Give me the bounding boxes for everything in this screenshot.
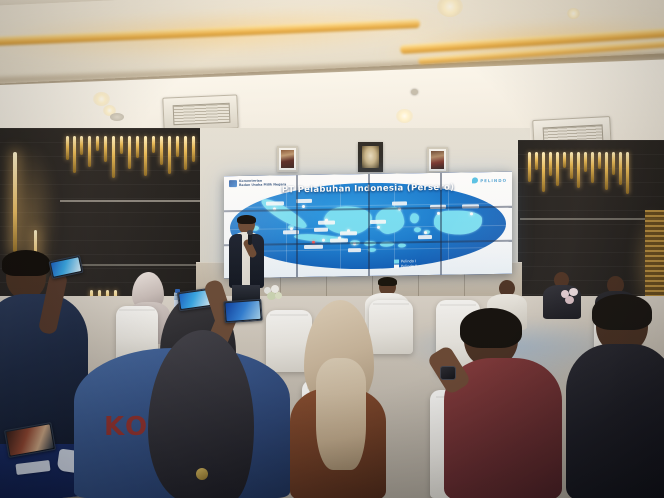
vice-president-portrait-image <box>431 151 444 169</box>
port-label-ambon <box>418 235 432 239</box>
flower-bud-r2 <box>569 288 578 296</box>
smoke-detector-icon <box>110 113 124 121</box>
gold-accent-bar-r8 <box>577 152 580 188</box>
video-wall-bezel-v3 <box>440 173 442 275</box>
port-dot-tanjung-perak <box>338 236 341 239</box>
phone-blue-case[interactable] <box>223 299 262 324</box>
gold-accent-bar-l17 <box>192 136 195 162</box>
legend-row-2: Pelindo II <box>394 264 417 268</box>
president-portrait-frame <box>277 146 298 172</box>
video-wall-bezel-v1 <box>296 175 298 277</box>
attendee-beige-hijab-drape <box>316 358 366 470</box>
port-dot-banjarmasin <box>347 229 350 232</box>
legend-swatch-2 <box>394 265 399 269</box>
port-label-belawan <box>266 201 284 205</box>
gold-accent-bar-l2 <box>73 136 76 173</box>
attendee-dark-shirt-hair <box>592 294 652 330</box>
gold-accent-bar-r10 <box>591 152 594 183</box>
garuda-emblem-frame <box>358 142 383 172</box>
attendee-white-shirt-hair <box>378 277 397 286</box>
gold-accent-bar-r2 <box>535 152 538 170</box>
gold-accent-bar-l1 <box>66 136 69 160</box>
gold-accent-bar-r4 <box>549 152 552 176</box>
gold-accent-bar-l14 <box>168 136 171 174</box>
gold-accent-bar-r11 <box>598 152 601 169</box>
gold-accent-bar-l16 <box>184 136 187 170</box>
gold-accent-bar-r6 <box>563 152 566 168</box>
gold-accent-bar-r1 <box>528 152 531 182</box>
gold-accent-bar-r7 <box>570 152 573 179</box>
port-label-tanjung-priok <box>304 245 323 249</box>
gold-accent-bar-r9 <box>584 152 587 172</box>
gold-accent-bar-l12 <box>152 136 155 153</box>
port-label-batam <box>296 199 312 203</box>
island-timor <box>398 243 406 247</box>
port-dot-ambon <box>424 231 427 234</box>
island-seram <box>414 227 421 232</box>
gold-accent-bar-l4 <box>88 136 91 167</box>
president-portrait-image <box>281 150 294 168</box>
vice-president-portrait-frame <box>427 147 448 173</box>
gold-accent-bar-l13 <box>160 136 163 165</box>
attendee-maroon-shirt <box>444 312 566 498</box>
downlight-2 <box>93 92 110 106</box>
map-legend: Pelindo I Pelindo II <box>394 259 417 269</box>
legend-row-1: Pelindo I <box>394 259 417 263</box>
gold-accent-bar-l5 <box>96 136 99 151</box>
phone-on-table-screen <box>6 424 53 455</box>
port-dot-batam <box>302 205 305 208</box>
gold-accent-bar-l7 <box>112 136 115 178</box>
video-wall-bezel-v2 <box>368 174 370 276</box>
phone-left-screen <box>51 257 81 277</box>
legend-label-2: Pelindo II <box>401 264 417 268</box>
gold-accent-bar-r3 <box>542 152 545 192</box>
seminar-room-photo: Kementerian Badan Usaha Milik Negara PEL… <box>0 0 664 498</box>
downlight-4 <box>396 109 413 123</box>
port-label-benoa <box>348 248 361 252</box>
island-halmahera <box>410 213 419 223</box>
ac-grille-left <box>172 103 230 125</box>
port-label-makassar <box>370 220 386 224</box>
ac-cassette-left <box>162 94 238 131</box>
attendee-dark-shirt-right <box>566 300 664 498</box>
port-dot-makassar <box>377 226 380 229</box>
gold-accent-bar-l10 <box>136 136 139 158</box>
port-label-bitung <box>392 201 407 205</box>
gold-accent-bar-l3 <box>80 136 83 155</box>
attendee-dark-shirt-body <box>566 344 664 498</box>
downlight-8 <box>567 8 580 19</box>
gold-accent-bar-r5 <box>556 152 559 186</box>
attendee-maroon-shirt-hair <box>460 308 522 348</box>
port-dot-semarang <box>322 239 325 242</box>
legend-label-1: Pelindo I <box>401 259 416 263</box>
legend-swatch-1 <box>394 260 399 264</box>
gold-accent-bar-l6 <box>104 136 107 162</box>
hijab-pin-icon <box>196 468 208 480</box>
microphone-head-icon <box>247 230 253 235</box>
gold-accent-bar-l9 <box>128 136 131 169</box>
gold-accent-bar-r13 <box>612 152 615 175</box>
phone-spare-screen <box>167 292 200 311</box>
gold-accent-bar-r15 <box>626 152 629 194</box>
gold-accent-bar-l8 <box>120 136 123 154</box>
phone-blue-case-screen <box>225 301 260 321</box>
sprinkler-head-1 <box>411 89 418 95</box>
attendee-beige-hijab <box>294 300 384 498</box>
gold-accent-bar-r14 <box>619 152 622 185</box>
gold-accent-bar-r12 <box>605 152 608 190</box>
presenter-hair <box>237 215 256 224</box>
port-dot-pontianak <box>325 219 328 222</box>
garuda-emblem-image <box>362 146 379 168</box>
port-label-semarang <box>314 228 328 232</box>
gold-accent-bar-l15 <box>176 136 179 157</box>
wall-seam-left <box>60 200 200 202</box>
floor-lamp-left-tall <box>13 152 17 252</box>
wristwatch-icon <box>440 366 456 380</box>
gold-accent-bar-l11 <box>144 136 147 176</box>
attendee-filming-left-hair <box>2 250 50 276</box>
